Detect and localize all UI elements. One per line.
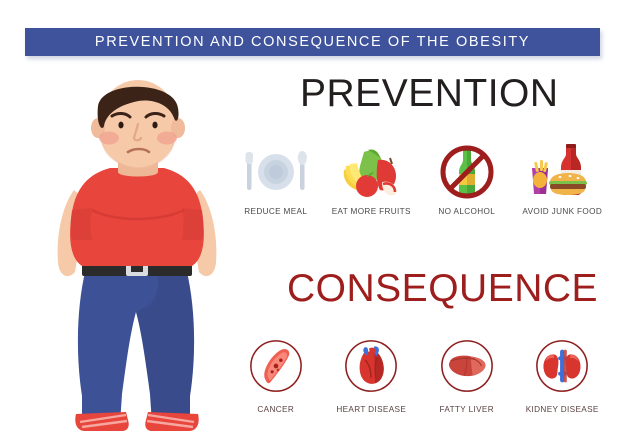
character-svg bbox=[48, 72, 228, 432]
consequence-item-label: KIDNEY DISEASE bbox=[526, 405, 599, 414]
no-alcohol-icon bbox=[434, 138, 500, 200]
consequence-items: CANCER HEART DISEASE bbox=[228, 336, 610, 414]
consequence-item-heart-disease[interactable]: HEART DISEASE bbox=[324, 336, 420, 414]
consequence-item-label: HEART DISEASE bbox=[336, 405, 406, 414]
prevention-item-label: REDUCE MEAL bbox=[244, 207, 307, 216]
page-title: PREVENTION AND CONSEQUENCE OF THE OBESIT… bbox=[95, 34, 530, 50]
prevention-items: REDUCE MEAL bbox=[228, 138, 610, 216]
fruits-pile-icon bbox=[338, 138, 404, 200]
plate-cutlery-icon bbox=[243, 138, 309, 200]
consequence-item-fatty-liver[interactable]: FATTY LIVER bbox=[419, 336, 515, 414]
heart-organ-icon bbox=[342, 336, 400, 396]
header-bar: PREVENTION AND CONSEQUENCE OF THE OBESIT… bbox=[25, 28, 600, 56]
consequence-item-label: FATTY LIVER bbox=[439, 405, 494, 414]
blood-vessel-icon bbox=[247, 336, 305, 396]
prevention-item-eat-more-fruits[interactable]: EAT MORE FRUITS bbox=[324, 138, 420, 216]
consequence-item-cancer[interactable]: CANCER bbox=[228, 336, 324, 414]
prevention-heading: PREVENTION bbox=[300, 72, 559, 116]
prevention-item-reduce-meal[interactable]: REDUCE MEAL bbox=[228, 138, 324, 216]
prevention-item-avoid-junk-food[interactable]: Soda AVOID JUNK FOOD bbox=[515, 138, 611, 216]
infographic-poster: PREVENTION AND CONSEQUENCE OF THE OBESIT… bbox=[0, 0, 626, 447]
consequence-item-label: CANCER bbox=[257, 405, 294, 414]
prevention-item-no-alcohol[interactable]: NO ALCOHOL bbox=[419, 138, 515, 216]
liver-organ-icon bbox=[438, 336, 496, 396]
junk-food-icon: Soda bbox=[526, 138, 598, 200]
prevention-item-label: EAT MORE FRUITS bbox=[332, 207, 411, 216]
obese-man-character bbox=[48, 72, 228, 432]
prevention-item-label: AVOID JUNK FOOD bbox=[522, 207, 602, 216]
consequence-heading: CONSEQUENCE bbox=[287, 267, 598, 311]
prevention-item-label: NO ALCOHOL bbox=[438, 207, 495, 216]
consequence-item-kidney-disease[interactable]: KIDNEY DISEASE bbox=[515, 336, 611, 414]
kidneys-organ-icon bbox=[533, 336, 591, 396]
